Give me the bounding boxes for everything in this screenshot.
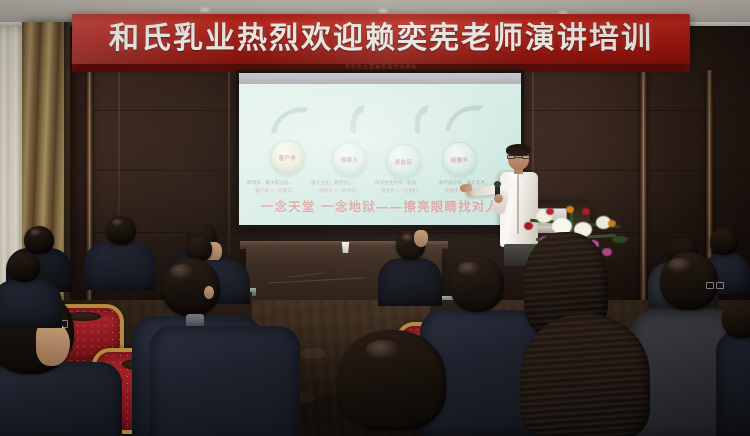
audience-member-front-right <box>520 314 650 436</box>
arc-arrow-icon <box>443 102 485 132</box>
flower-rose <box>582 208 590 215</box>
slide-note: 保资金使用率、账期。 <box>375 180 421 186</box>
hair-highlight <box>366 340 400 360</box>
lens-left <box>507 155 515 159</box>
audience-torso <box>716 330 750 436</box>
slide-bubble-4: 经验丰 <box>442 142 477 177</box>
flower-orange <box>608 220 616 227</box>
slide-note: 恨天主业、剩无恒心。 <box>311 180 357 186</box>
slide-headline: 一念天堂 一念地狱——擦亮眼睛找对人 <box>239 196 521 215</box>
banner-sheen <box>72 14 691 64</box>
slide-bubble-label: 规模大 <box>341 156 359 164</box>
ceiling-light-icon <box>200 8 210 12</box>
microphone-head-icon <box>494 181 501 187</box>
flower-greenery <box>612 236 628 243</box>
audience-torso <box>0 280 62 328</box>
audience-member <box>338 330 446 436</box>
hair-highlight <box>458 262 480 276</box>
audience-face-profile <box>36 322 70 366</box>
hair-highlight <box>112 219 124 227</box>
arc-arrow-icon <box>331 104 373 134</box>
glasses-icon <box>706 282 724 289</box>
projection-screen: 客户多 规模大 资金足 经验丰 赊销货、集中度过低。 恨天主业、剩无恒心。 保资… <box>239 84 521 225</box>
slide-note: 规模大——管理强。 <box>319 188 360 194</box>
glasses-icon <box>507 155 530 159</box>
arc-arrow-icon <box>395 104 437 134</box>
audience-face-profile <box>414 230 428 247</box>
hair-highlight <box>30 229 42 237</box>
ceiling-light-icon <box>378 9 388 13</box>
slide-note: 客户多——区域工。 <box>255 188 296 194</box>
flower-rose <box>524 222 533 230</box>
hair-highlight <box>668 258 692 273</box>
arc-arrow-icon <box>269 104 311 134</box>
slide-bubble-2: 规模大 <box>332 142 367 177</box>
welcome-banner: 和氏乳业热烈欢迎赖奕宪老师演讲培训 <box>72 14 691 64</box>
audience-member <box>716 300 750 436</box>
slide-note: 赊销货、集中度过低。 <box>247 180 293 186</box>
seminar-photo: 和氏乳业营销管理培训课程 和氏乳业热烈欢迎赖奕宪老师演讲培训 客户多 规模大 资… <box>0 0 750 436</box>
audience-head <box>8 252 40 282</box>
long-hair <box>520 314 650 436</box>
audience-torso <box>150 326 300 436</box>
audience-member-front-center <box>150 276 300 436</box>
slide-bubble-label: 经验丰 <box>451 156 469 164</box>
flower-rose <box>546 208 554 215</box>
audience-member <box>0 252 62 322</box>
lens-right <box>716 282 724 289</box>
lens-right <box>522 155 530 159</box>
slide-bubble-label: 客户多 <box>279 154 297 162</box>
slide-bubble-1: 客户多 <box>270 140 305 175</box>
projection-screen-top-band <box>239 73 521 84</box>
speaker-mic-hand <box>494 194 503 203</box>
slide-bubble-3: 资金足 <box>386 144 421 179</box>
slide-bubble-label: 资金足 <box>395 158 413 166</box>
audience-head <box>722 300 750 338</box>
glasses-bridge <box>515 157 522 158</box>
speaker-pointing-hand <box>460 183 473 193</box>
lens-left <box>706 282 714 289</box>
audience-head <box>710 228 738 255</box>
slide-note: 资金足——信用好。 <box>381 188 422 194</box>
flower-orange <box>566 206 574 213</box>
